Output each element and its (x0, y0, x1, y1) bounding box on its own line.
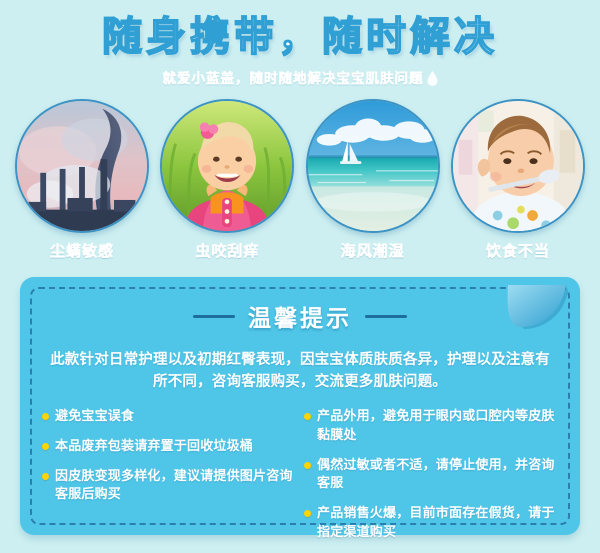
cause-item-dust-mite[interactable]: 尘螨敏感 (14, 99, 150, 261)
page-subtitle: 就爱小蓝盖，随时随地解决宝宝肌肤问题 (163, 67, 424, 87)
list-item: 避免宝宝误食 (42, 407, 296, 426)
cause-label: 虫咬刮痒 (195, 240, 259, 261)
tips-column-right: 产品外用，避免用于眼内或口腔内等皮肤黏膜处 偶然过敏或者不适，请停止使用，并咨询… (304, 407, 558, 553)
factory-smokestacks-photo (15, 99, 149, 233)
tips-paragraph: 此款针对日常护理以及初期红臀表现，因宝宝体质肤质各异，护理以及注意有所不同，咨询… (48, 349, 552, 394)
list-item-text: 产品外用，避免用于眼内或口腔内等皮肤黏膜处 (317, 407, 558, 445)
heading-rule-left (193, 315, 235, 318)
tips-panel: 温馨提示 此款针对日常护理以及初期红臀表现，因宝宝体质肤质各异，护理以及注意有所… (20, 277, 580, 535)
bullet-dot-icon (42, 473, 49, 480)
bullet-dot-icon (304, 510, 311, 517)
bullet-dot-icon (42, 443, 49, 450)
list-item: 偶然过敏或者不适，请停止使用，并咨询客服 (304, 456, 558, 494)
cause-label: 饮食不当 (486, 240, 550, 261)
list-item: 产品销售火爆，目前市面存在假货，请于指定渠道购买 (304, 504, 558, 542)
bullet-dot-icon (304, 413, 311, 420)
bullet-dot-icon (42, 413, 49, 420)
cause-item-improper-diet[interactable]: 饮食不当 (450, 99, 586, 261)
cause-label: 尘螨敏感 (50, 240, 114, 261)
bullet-dot-icon (304, 462, 311, 469)
cause-label: 海风潮湿 (341, 240, 405, 261)
list-item: 因皮肤变现多样化，建议请提供图片咨询客服后购买 (42, 467, 296, 505)
list-item: 产品外用，避免用于眼内或口腔内等皮肤黏膜处 (304, 407, 558, 445)
cause-item-insect-bite[interactable]: 虫咬刮痒 (159, 99, 295, 261)
list-item: 本品废弃包装请弃置于回收垃圾桶 (42, 437, 296, 456)
beach-sailboat-photo (306, 99, 440, 233)
list-item-text: 偶然过敏或者不适，请停止使用，并咨询客服 (317, 456, 558, 494)
baby-girl-in-grass-photo (160, 99, 294, 233)
list-item-text: 因皮肤变现多样化，建议请提供图片咨询客服后购买 (55, 467, 296, 505)
heading-rule-right (365, 315, 407, 318)
tips-column-left: 避免宝宝误食 本品废弃包装请弃置于回收垃圾桶 因皮肤变现多样化，建议请提供图片咨… (42, 407, 296, 553)
tips-columns: 避免宝宝误食 本品废弃包装请弃置于回收垃圾桶 因皮肤变现多样化，建议请提供图片咨… (42, 407, 558, 553)
list-item-text: 产品销售火爆，目前市面存在假货，请于指定渠道购买 (317, 504, 558, 542)
list-item-text: 本品废弃包装请弃置于回收垃圾桶 (55, 437, 253, 456)
page-header: 随身携带，随时解决 就爱小蓝盖，随时随地解决宝宝肌肤问题 (0, 0, 600, 87)
cause-circle-row: 尘螨敏感 (0, 99, 600, 261)
page-title: 随身携带，随时解决 (0, 14, 600, 60)
page-subtitle-row: 就爱小蓝盖，随时随地解决宝宝肌肤问题 (0, 67, 600, 87)
tips-heading: 温馨提示 (248, 299, 352, 333)
water-drop-icon (427, 71, 438, 86)
cause-item-sea-humidity[interactable]: 海风潮湿 (305, 99, 441, 261)
list-item-text: 避免宝宝误食 (55, 407, 134, 426)
baby-eating-spoon-photo (451, 99, 585, 233)
tips-heading-row: 温馨提示 (20, 277, 580, 333)
